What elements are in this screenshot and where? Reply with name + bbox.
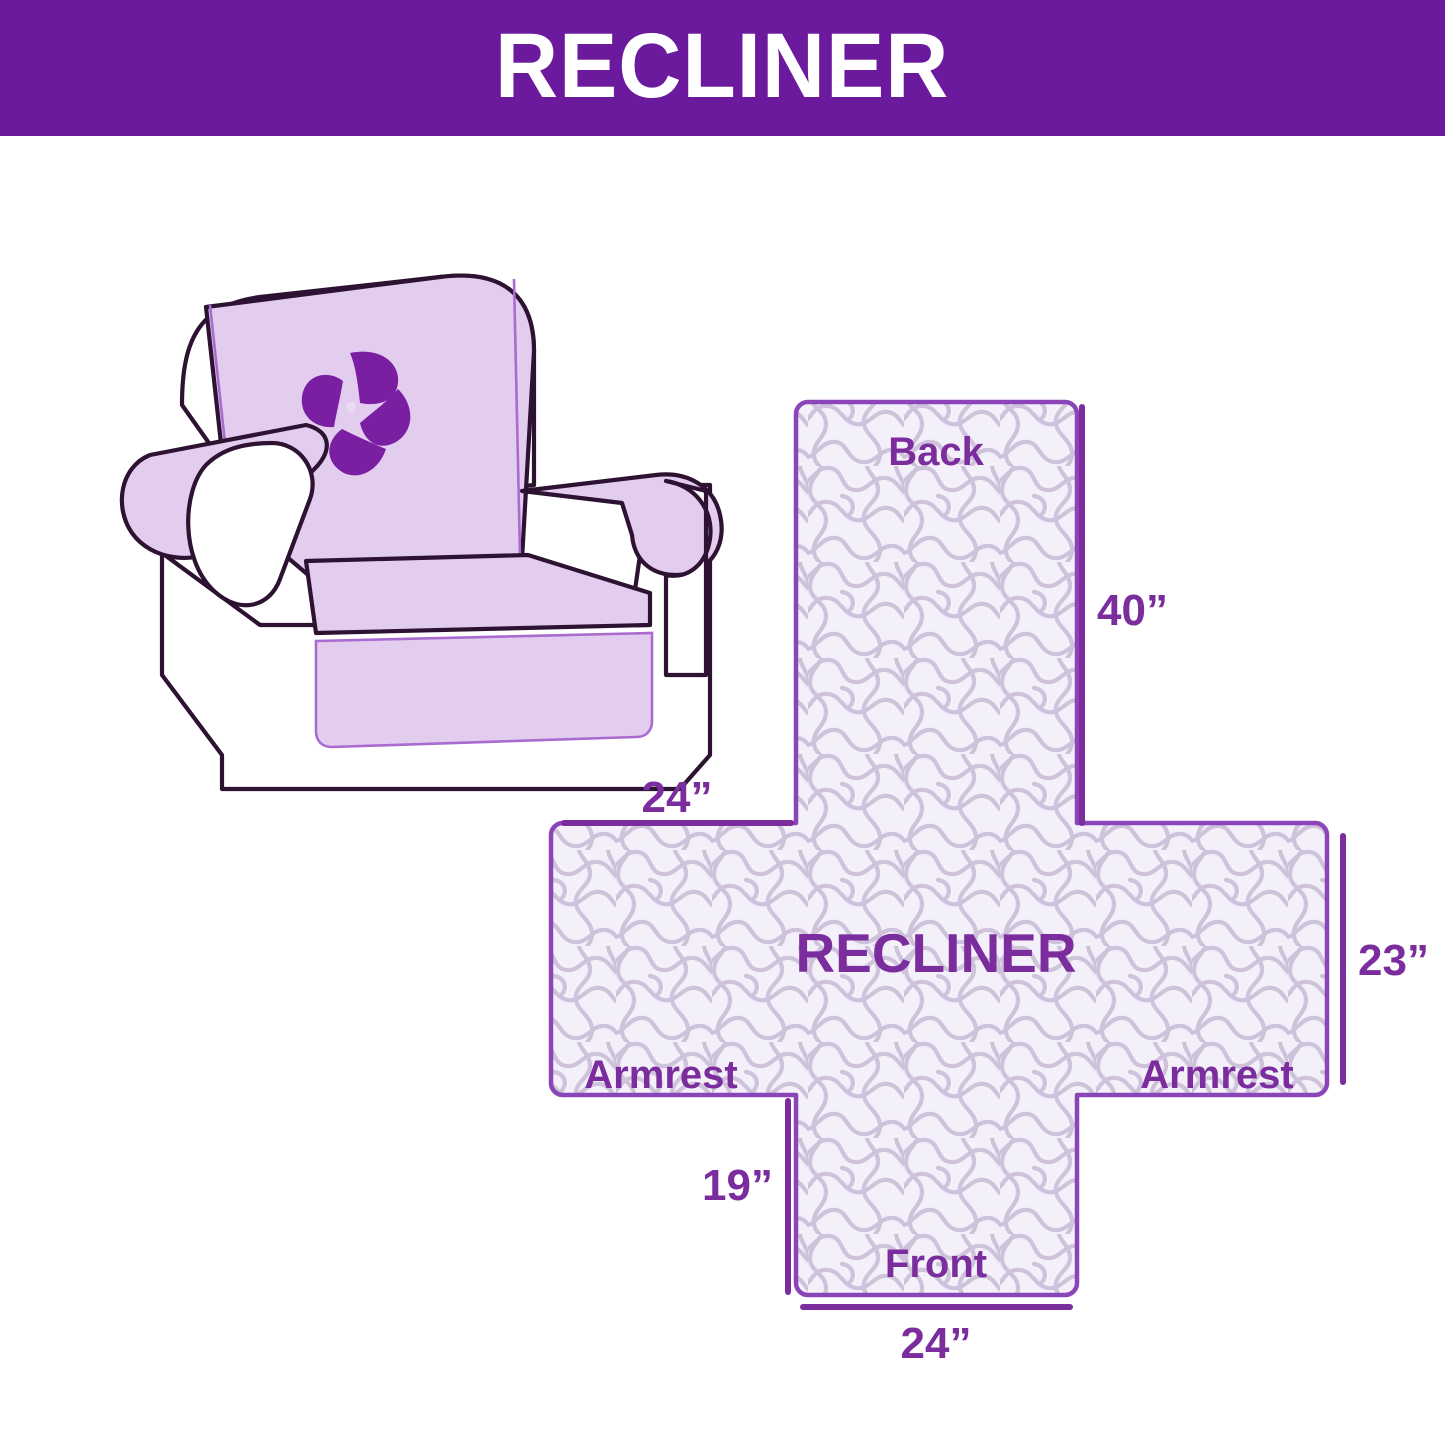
label-front: Front	[885, 1242, 987, 1286]
label-back: Back	[888, 430, 984, 474]
header-banner: RECLINER	[0, 0, 1445, 136]
dimension-armrest-depth: 23”	[1343, 836, 1429, 1082]
left-armrest	[122, 425, 327, 605]
dimension-back-width-label: 24”	[642, 773, 713, 822]
dimension-back-width: 24”	[564, 773, 791, 823]
product-dimension-diagram-page: RECLINER .ol { fill:none; stroke:#2D1232…	[0, 0, 1445, 1445]
dimension-back-height-label: 40”	[1097, 586, 1168, 635]
label-armrest-right: Armrest	[1140, 1053, 1293, 1097]
dimension-armrest-depth-label: 23”	[1358, 936, 1429, 985]
page-title: RECLINER	[495, 20, 949, 112]
cover-flat-layout-diagram: Back RECLINER Armrest Armrest Front 40” …	[520, 370, 1445, 1380]
cover-cross-shape	[551, 402, 1327, 1295]
dimension-back-height: 40”	[1082, 407, 1168, 823]
dimension-front-width-label: 24”	[901, 1319, 972, 1368]
dimension-front-height-label: 19”	[702, 1161, 773, 1210]
label-armrest-left: Armrest	[584, 1053, 737, 1097]
dimension-front-height: 19”	[702, 1101, 788, 1292]
dimension-front-width: 24”	[803, 1307, 1070, 1368]
label-recliner-center: RECLINER	[795, 922, 1076, 984]
